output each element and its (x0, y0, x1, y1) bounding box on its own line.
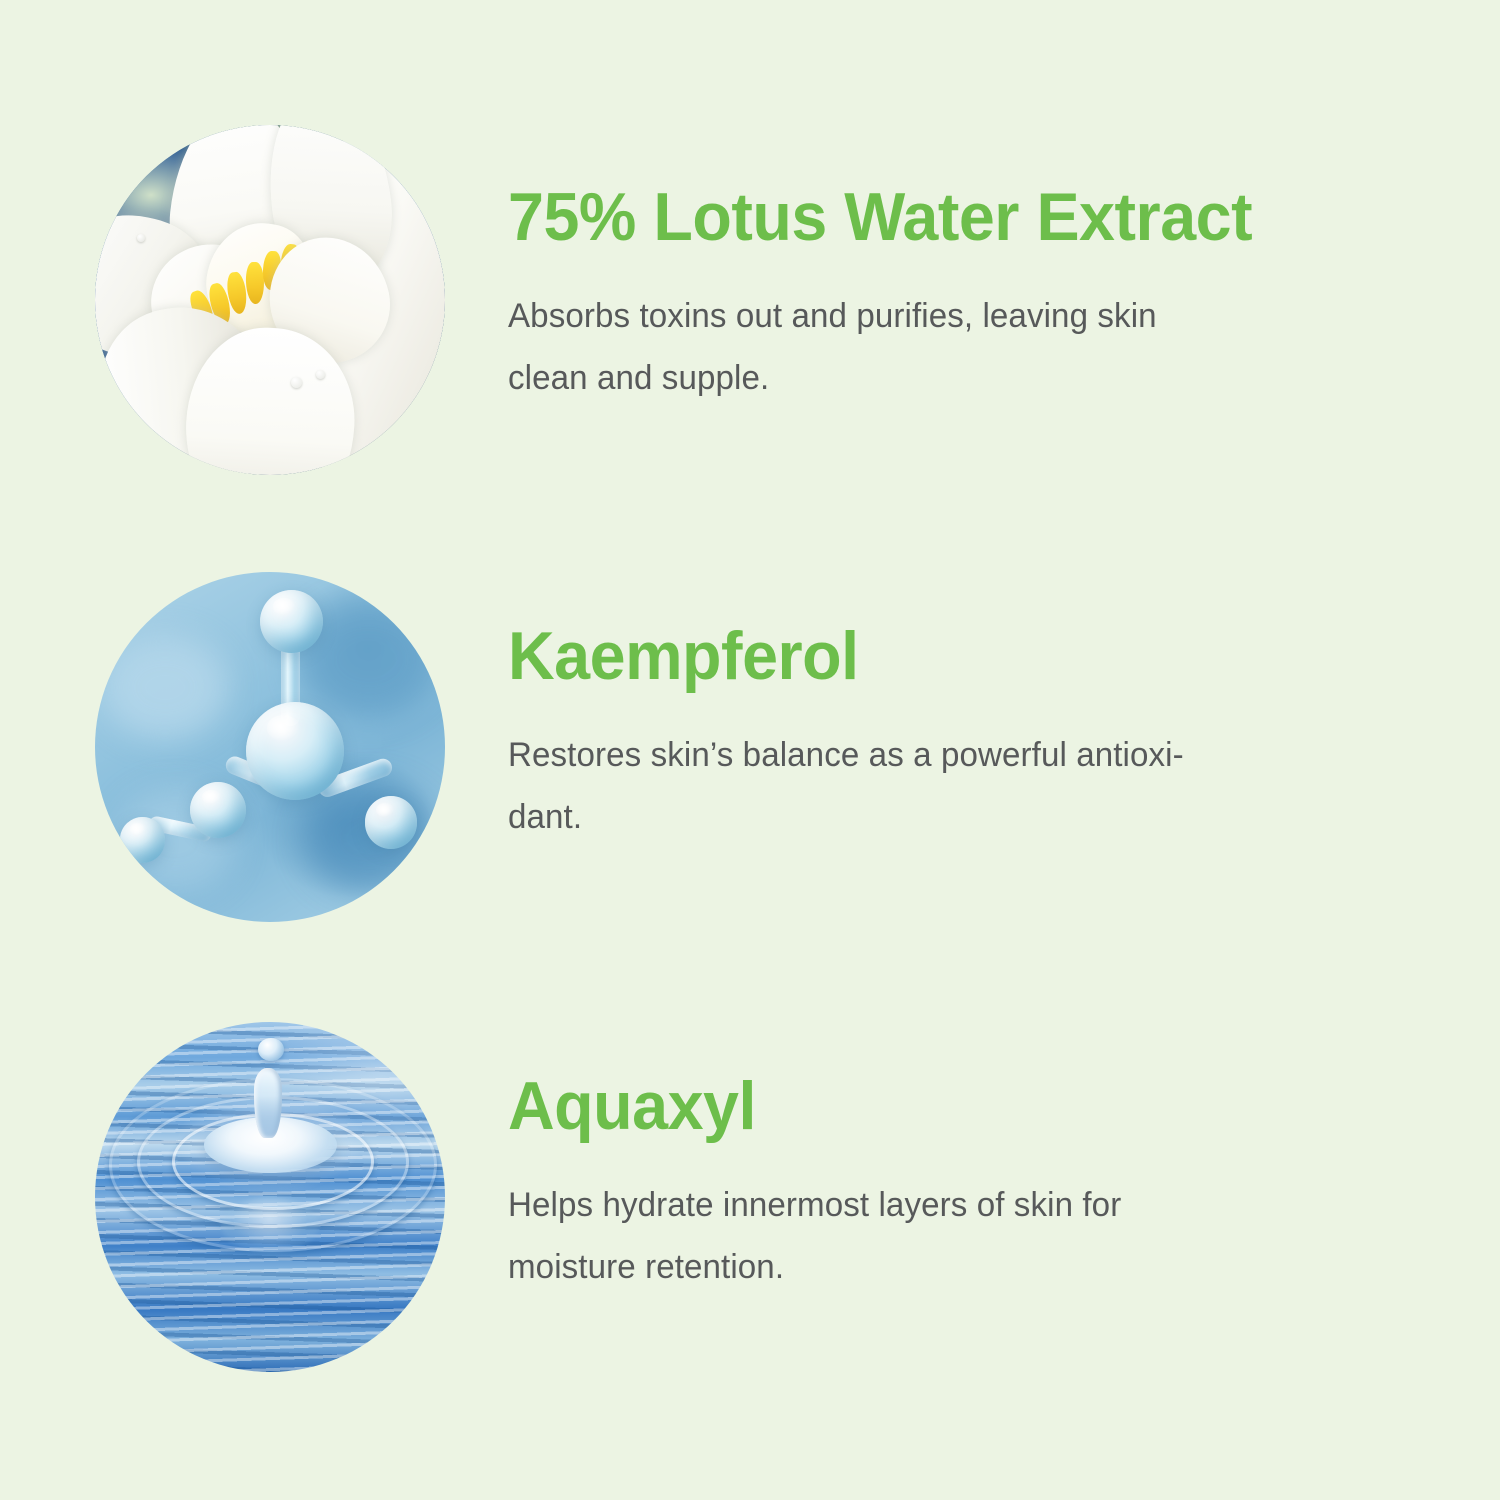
water-surface-sheen (95, 1022, 445, 1372)
ingredient-row-kaempferol: Kaempferol Restores skin’s balance as a … (0, 572, 1500, 922)
ingredient-text-kaempferol: Kaempferol Restores skin’s balance as a … (508, 622, 1428, 848)
ingredient-heading: Aquaxyl (508, 1072, 1382, 1141)
molecule-sphere-lower-left (190, 782, 246, 838)
lotus-dew-drop (316, 370, 325, 379)
molecule-sphere-top (260, 590, 323, 653)
water-molecule-photo (95, 572, 445, 922)
water-droplet-photo (95, 1022, 445, 1372)
molecule-sphere-outer-left (120, 817, 166, 863)
ingredient-text-lotus: 75% Lotus Water Extract Absorbs toxins o… (508, 183, 1428, 409)
ingredient-benefits-infographic: 75% Lotus Water Extract Absorbs toxins o… (0, 0, 1500, 1500)
ingredient-description: Restores skin’s balance as a powerful an… (508, 691, 1391, 848)
ingredient-text-aquaxyl: Aquaxyl Helps hydrate innermost layers o… (508, 1072, 1428, 1298)
lotus-flower-photo (95, 125, 445, 475)
ingredient-heading: Kaempferol (508, 622, 1382, 691)
ingredient-row-aquaxyl: Aquaxyl Helps hydrate innermost layers o… (0, 1022, 1500, 1372)
ingredient-row-lotus: 75% Lotus Water Extract Absorbs toxins o… (0, 125, 1500, 475)
ingredient-description: Absorbs toxins out and purifies, leaving… (508, 252, 1391, 409)
ingredient-description: Helps hydrate innermost layers of skin f… (508, 1141, 1391, 1298)
molecule-sphere-lower-right (365, 796, 418, 849)
ingredient-heading: 75% Lotus Water Extract (508, 183, 1382, 252)
molecule-sphere-center (246, 702, 344, 800)
molecule-bokeh-blob (102, 635, 228, 740)
